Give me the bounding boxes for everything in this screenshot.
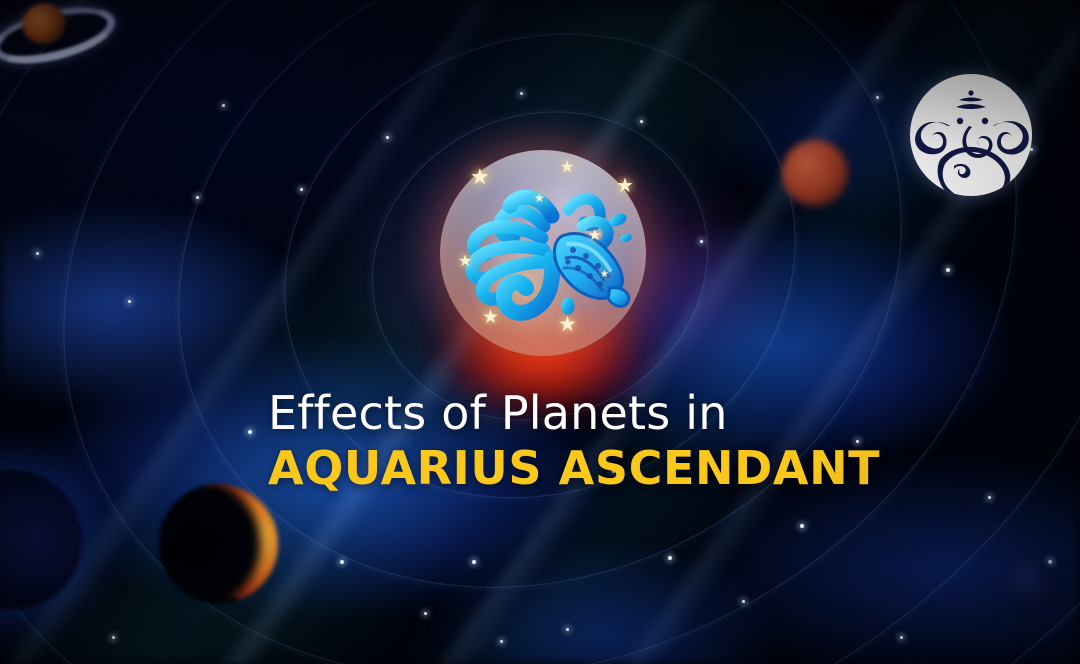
twinkle-star-icon: ★ xyxy=(470,166,490,188)
background-star xyxy=(128,300,131,303)
banner-title-block: Effects of Planets in AQUARIUS ASCENDANT xyxy=(268,388,828,494)
background-star xyxy=(742,600,745,603)
background-star xyxy=(876,96,879,99)
planet-dim-blue-icon xyxy=(1004,556,1058,610)
background-star xyxy=(36,252,39,255)
background-star xyxy=(946,268,950,272)
planet-ringed-icon xyxy=(0,0,92,73)
twinkle-star-icon: ★ xyxy=(558,314,577,335)
background-star xyxy=(196,196,199,199)
ganesha-logo[interactable] xyxy=(910,74,1032,196)
twinkle-star-icon: ★ xyxy=(600,270,609,280)
background-star xyxy=(900,636,903,639)
background-star xyxy=(500,640,503,643)
page-title-primary: Effects of Planets in xyxy=(268,388,828,440)
background-star xyxy=(800,524,804,528)
page-title-highlight: AQUARIUS ASCENDANT xyxy=(268,442,828,494)
twinkle-star-icon: ★ xyxy=(534,192,545,204)
twinkle-star-icon: ★ xyxy=(482,308,499,327)
background-star xyxy=(300,188,303,191)
background-star xyxy=(988,496,991,499)
background-star xyxy=(340,560,344,564)
background-star xyxy=(566,628,569,631)
background-star xyxy=(472,560,476,564)
background-star xyxy=(112,636,115,639)
background-star xyxy=(424,612,427,615)
twinkle-star-icon: ★ xyxy=(560,160,574,176)
planet-ring-front xyxy=(0,0,121,74)
background-star xyxy=(386,136,389,139)
background-star xyxy=(222,104,225,107)
background-star xyxy=(248,430,252,434)
aquarius-orb: ★★★★★★★★★ xyxy=(440,150,646,356)
planet-dark-edge-icon xyxy=(0,470,82,610)
planet-red-icon xyxy=(782,140,848,206)
twinkle-star-icon: ★ xyxy=(616,176,634,196)
ganesha-icon xyxy=(910,74,1032,196)
planet-eclipse-shadow xyxy=(160,485,278,603)
background-star xyxy=(640,120,643,123)
zodiac-banner: ★★★★★★★★★ xyxy=(0,0,1080,664)
twinkle-star-icon: ★ xyxy=(458,254,472,270)
background-star xyxy=(520,92,523,95)
glass-sphere: ★★★★★★★★★ xyxy=(440,150,646,356)
background-star xyxy=(668,556,672,560)
twinkle-star-icon: ★ xyxy=(588,228,601,243)
